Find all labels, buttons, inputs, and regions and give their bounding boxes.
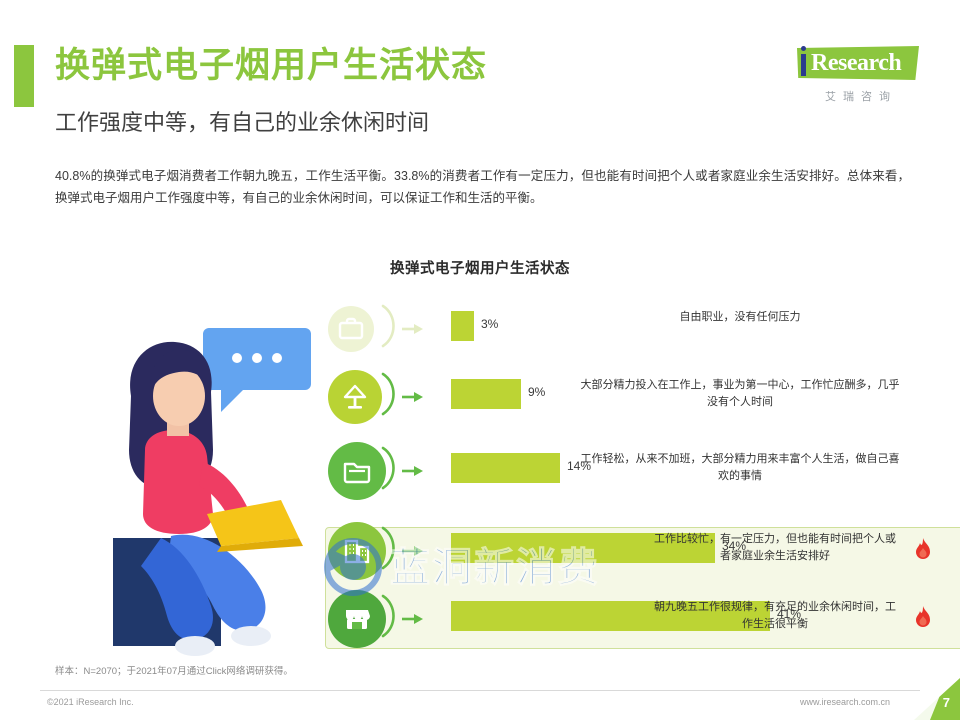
row-description: 工作比较忙，有一定压力，但也能有时间把个人或者家庭业余生活安排好 xyxy=(650,531,900,565)
iresearch-logo: Research 艾瑞咨询 xyxy=(775,44,920,106)
row-arc-decoration xyxy=(380,525,402,571)
page-title: 换弹式电子烟用户生活状态 xyxy=(55,44,487,88)
page-number: 7 xyxy=(943,695,950,710)
row-description: 工作轻松，从来不加班，大部分精力用来丰富个人生活，做自己喜欢的事情 xyxy=(580,451,900,485)
copyright-text: ©2021 iResearch Inc. xyxy=(47,697,134,707)
bar-value-label: 9% xyxy=(528,385,545,399)
logo-i-dot xyxy=(801,46,806,51)
row-arc-decoration xyxy=(380,593,402,639)
row-description: 大部分精力投入在工作上，事业为第一中心，工作忙应酬多，几乎没有个人时间 xyxy=(580,377,900,411)
chart-title: 换弹式电子烟用户生活状态 xyxy=(0,257,960,278)
logo-i-stem xyxy=(801,54,806,76)
page-subtitle: 工作强度中等，有自己的业余休闲时间 xyxy=(55,108,429,138)
row-description: 朝九晚五工作很规律，有充足的业余休闲时间，工作生活很平衡 xyxy=(650,599,900,633)
flame-icon xyxy=(912,605,934,631)
summary-paragraph: 40.8%的换弹式电子烟消费者工作朝九晚五，工作生活平衡。33.8%的消费者工作… xyxy=(55,165,910,209)
speech-bubble-icon xyxy=(203,328,311,412)
source-note: 样本：N=2070；于2021年07月通过Click网络调研获得。 xyxy=(55,663,293,677)
storefront-icon xyxy=(328,590,386,648)
flame-icon xyxy=(912,537,934,563)
logo-chinese-name: 艾瑞咨询 xyxy=(805,88,917,104)
office-building-icon xyxy=(328,522,386,580)
chart-bar xyxy=(451,453,560,483)
row-arc-decoration xyxy=(380,371,402,417)
row-arrow-icon xyxy=(402,611,424,621)
folder-icon xyxy=(328,442,386,500)
chart-bar xyxy=(451,379,521,409)
row-arrow-icon xyxy=(402,463,424,473)
row-icon-group xyxy=(328,519,392,583)
title-accent-bar xyxy=(14,45,34,107)
bar-value-label: 3% xyxy=(481,317,498,331)
row-arc-decoration xyxy=(380,445,402,491)
slide-canvas: 换弹式电子烟用户生活状态 工作强度中等，有自己的业余休闲时间 40.8%的换弹式… xyxy=(0,0,960,720)
footer-divider xyxy=(40,690,920,691)
logo-mark: Research xyxy=(775,44,920,84)
website-url: www.iresearch.com.cn xyxy=(800,697,890,707)
laptop-icon xyxy=(207,500,303,552)
row-description: 自由职业，没有任何压力 xyxy=(580,309,900,326)
chart-bar xyxy=(451,311,474,341)
row-arrow-icon xyxy=(402,543,424,553)
row-arrow-icon xyxy=(402,321,424,331)
logo-wordmark: Research xyxy=(811,50,901,76)
lamp-icon xyxy=(328,370,382,424)
row-arrow-icon xyxy=(402,389,424,399)
row-icon-group xyxy=(328,365,392,429)
illustration-woman-with-laptop xyxy=(75,300,335,660)
row-icon-group xyxy=(328,587,392,651)
row-arc-decoration xyxy=(380,303,402,349)
row-icon-group xyxy=(328,297,392,361)
row-icon-group xyxy=(328,439,392,503)
